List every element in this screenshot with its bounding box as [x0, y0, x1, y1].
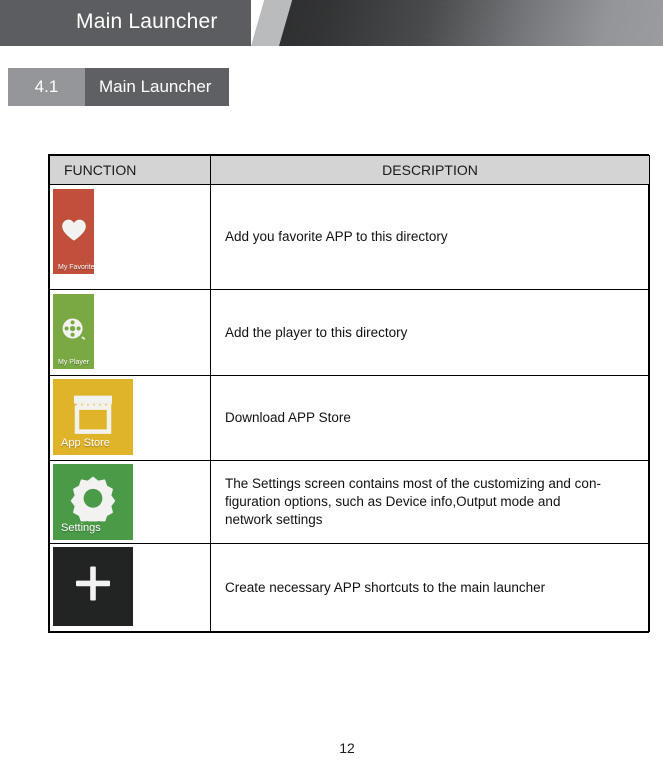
function-cell — [50, 544, 211, 632]
description-line: Create necessary APP shortcuts to the ma… — [225, 579, 649, 597]
section-title: Main Launcher — [85, 68, 229, 106]
description-line: The Settings screen contains most of the… — [225, 475, 649, 493]
section-heading: 4.1 Main Launcher — [8, 68, 229, 106]
storefront-icon — [53, 393, 133, 435]
gear-icon — [53, 475, 133, 521]
function-cell: App Store — [50, 376, 211, 461]
tile-app-store[interactable]: App Store — [53, 379, 133, 455]
function-table: FUNCTION DESCRIPTION My Favorite — [49, 155, 650, 632]
function-cell: My Favorite — [50, 185, 211, 290]
table-header-row: FUNCTION DESCRIPTION — [50, 156, 650, 185]
description-cell: Add the player to this directory — [211, 290, 650, 376]
tile-add-shortcut[interactable] — [53, 547, 133, 626]
film-reel-icon — [53, 316, 94, 342]
description-line: Add you favorite APP to this directory — [225, 228, 649, 246]
banner-title: Main Launcher — [76, 10, 218, 34]
page-number-value: 12 — [339, 740, 355, 756]
description-line: figuration options, such as Device info,… — [225, 493, 649, 511]
table-row: App Store Download APP Store — [50, 376, 650, 461]
heart-icon — [53, 218, 94, 242]
table-row: Settings The Settings screen contains mo… — [50, 461, 650, 544]
tile-label: My Player — [58, 359, 89, 366]
description-line: network settings — [225, 511, 649, 529]
tile-my-player[interactable]: My Player — [53, 294, 94, 369]
banner-gradient — [271, 0, 663, 46]
description-cell: Create necessary APP shortcuts to the ma… — [211, 544, 650, 632]
table-row: My Player Add the player to this directo… — [50, 290, 650, 376]
description-cell: Download APP Store — [211, 376, 650, 461]
tile-label: Settings — [61, 522, 101, 534]
column-header-function: FUNCTION — [50, 156, 211, 185]
function-cell: My Player — [50, 290, 211, 376]
tile-label: App Store — [61, 437, 110, 449]
description-line: Download APP Store — [225, 409, 649, 427]
section-number: 4.1 — [8, 68, 85, 106]
tile-settings[interactable]: Settings — [53, 464, 133, 540]
description-cell: The Settings screen contains most of the… — [211, 461, 650, 544]
column-header-description: DESCRIPTION — [211, 156, 650, 185]
table-row: Create necessary APP shortcuts to the ma… — [50, 544, 650, 632]
description-line: Add the player to this directory — [225, 324, 649, 342]
plus-icon — [53, 561, 133, 605]
function-table-wrapper: FUNCTION DESCRIPTION My Favorite — [48, 154, 649, 633]
tile-label: My Favorite — [58, 264, 94, 271]
page-banner: Main Launcher — [0, 0, 663, 46]
description-cell: Add you favorite APP to this directory — [211, 185, 650, 290]
function-cell: Settings — [50, 461, 211, 544]
page-number: 12 — [0, 740, 663, 756]
tile-my-favorite[interactable]: My Favorite — [53, 189, 94, 274]
table-row: My Favorite Add you favorite APP to this… — [50, 185, 650, 290]
